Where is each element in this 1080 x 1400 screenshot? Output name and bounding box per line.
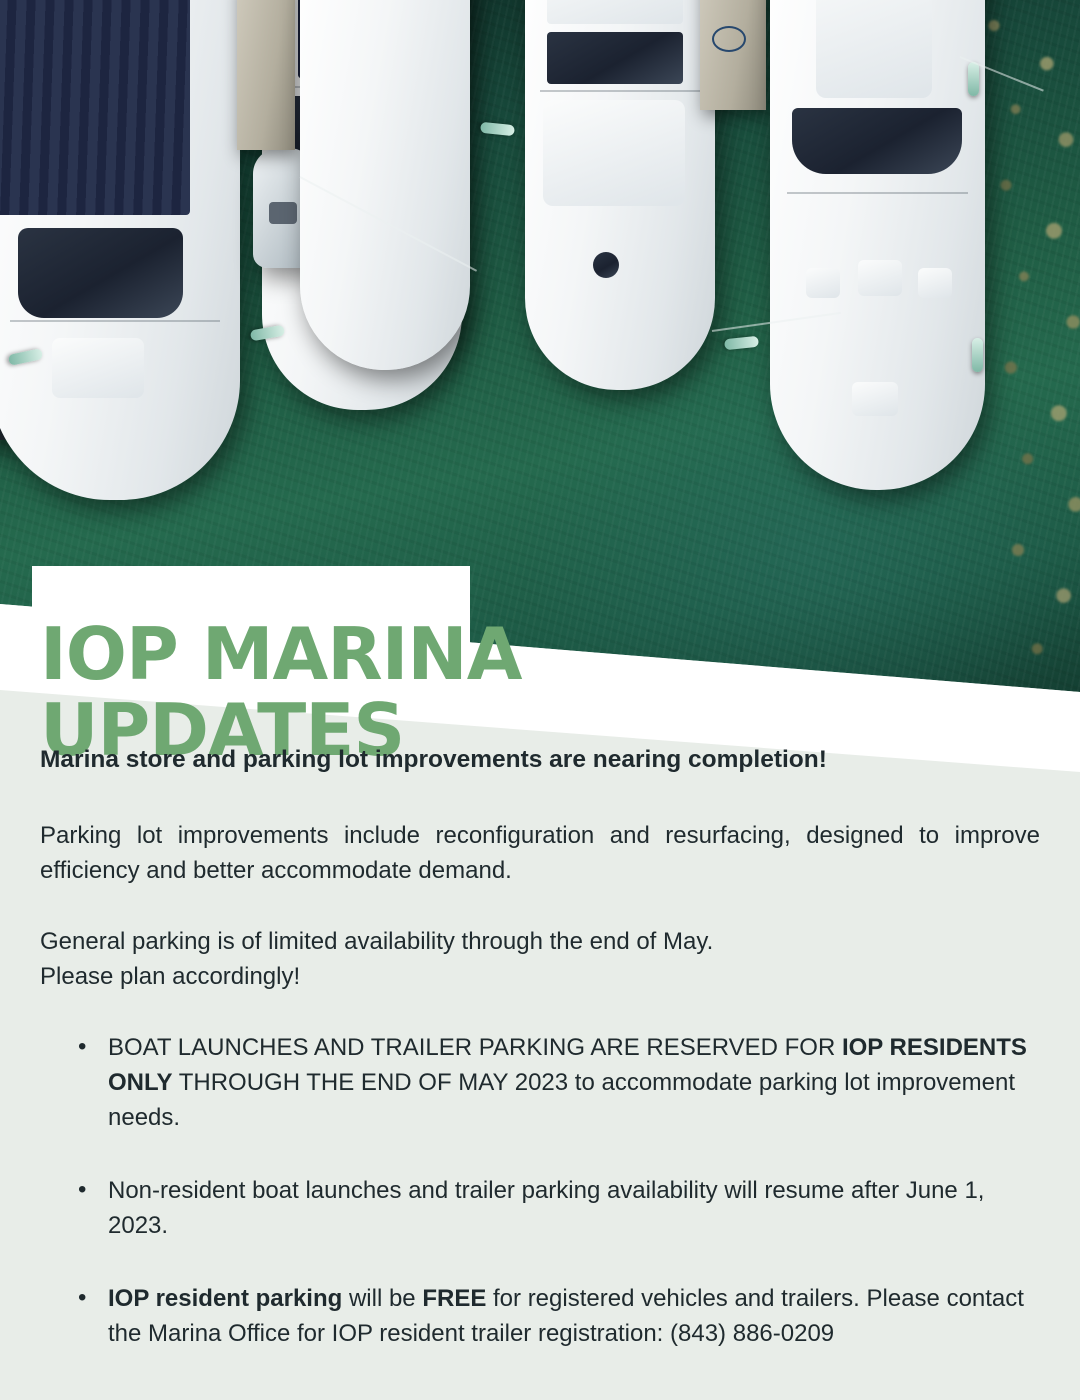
boat-5-fender-upper [968,62,979,96]
boat-1-windshield [18,228,183,318]
boat-3 [300,0,470,370]
paragraph-1: Parking lot improvements include reconfi… [40,818,1040,888]
list-item: Non-resident boat launches and trailer p… [104,1173,1040,1243]
boat-1-deckline [10,320,220,322]
poster: IOP MARINA UPDATES Marina store and park… [0,0,1080,1400]
boat-4-flybridge-cover [547,0,683,24]
dock-finger-left [237,0,295,150]
list-item: IOP resident parking will be FREE for re… [104,1281,1040,1351]
boat-1-foredeck-hatch [52,338,144,398]
bicycle-icon [712,26,746,52]
boat-5-bow-hatch [852,382,898,416]
boat-1 [0,0,240,500]
boat-4-window [547,32,683,84]
boat-5-deckbox-mid [858,260,902,296]
dinghy-console [269,202,297,224]
dock-finger-right [700,0,766,110]
boat-1-navy-cover [0,0,190,215]
content-body: Marina store and parking lot improvement… [40,744,1040,1389]
boat-5-deckbox-left [806,268,840,298]
boat-4-hatch [593,252,619,278]
boat-5-tower [816,0,932,98]
paragraph-2: General parking is of limited availabili… [40,924,1040,994]
boat-5-salon-window [792,108,962,174]
lead-paragraph: Marina store and parking lot improvement… [40,744,1040,776]
boat-4-cockpit-cover [543,100,685,206]
bullet-list: BOAT LAUNCHES AND TRAILER PARKING ARE RE… [40,1030,1040,1351]
boat-5-deckline [787,192,968,194]
boat-4-deckline [540,90,700,92]
boat-4 [525,0,715,390]
boat-5-deckbox-right [918,268,952,298]
list-item: BOAT LAUNCHES AND TRAILER PARKING ARE RE… [104,1030,1040,1135]
boat-5 [770,0,985,490]
boat-5-fender-lower [972,338,983,372]
rocky-shoreline [970,0,1080,710]
